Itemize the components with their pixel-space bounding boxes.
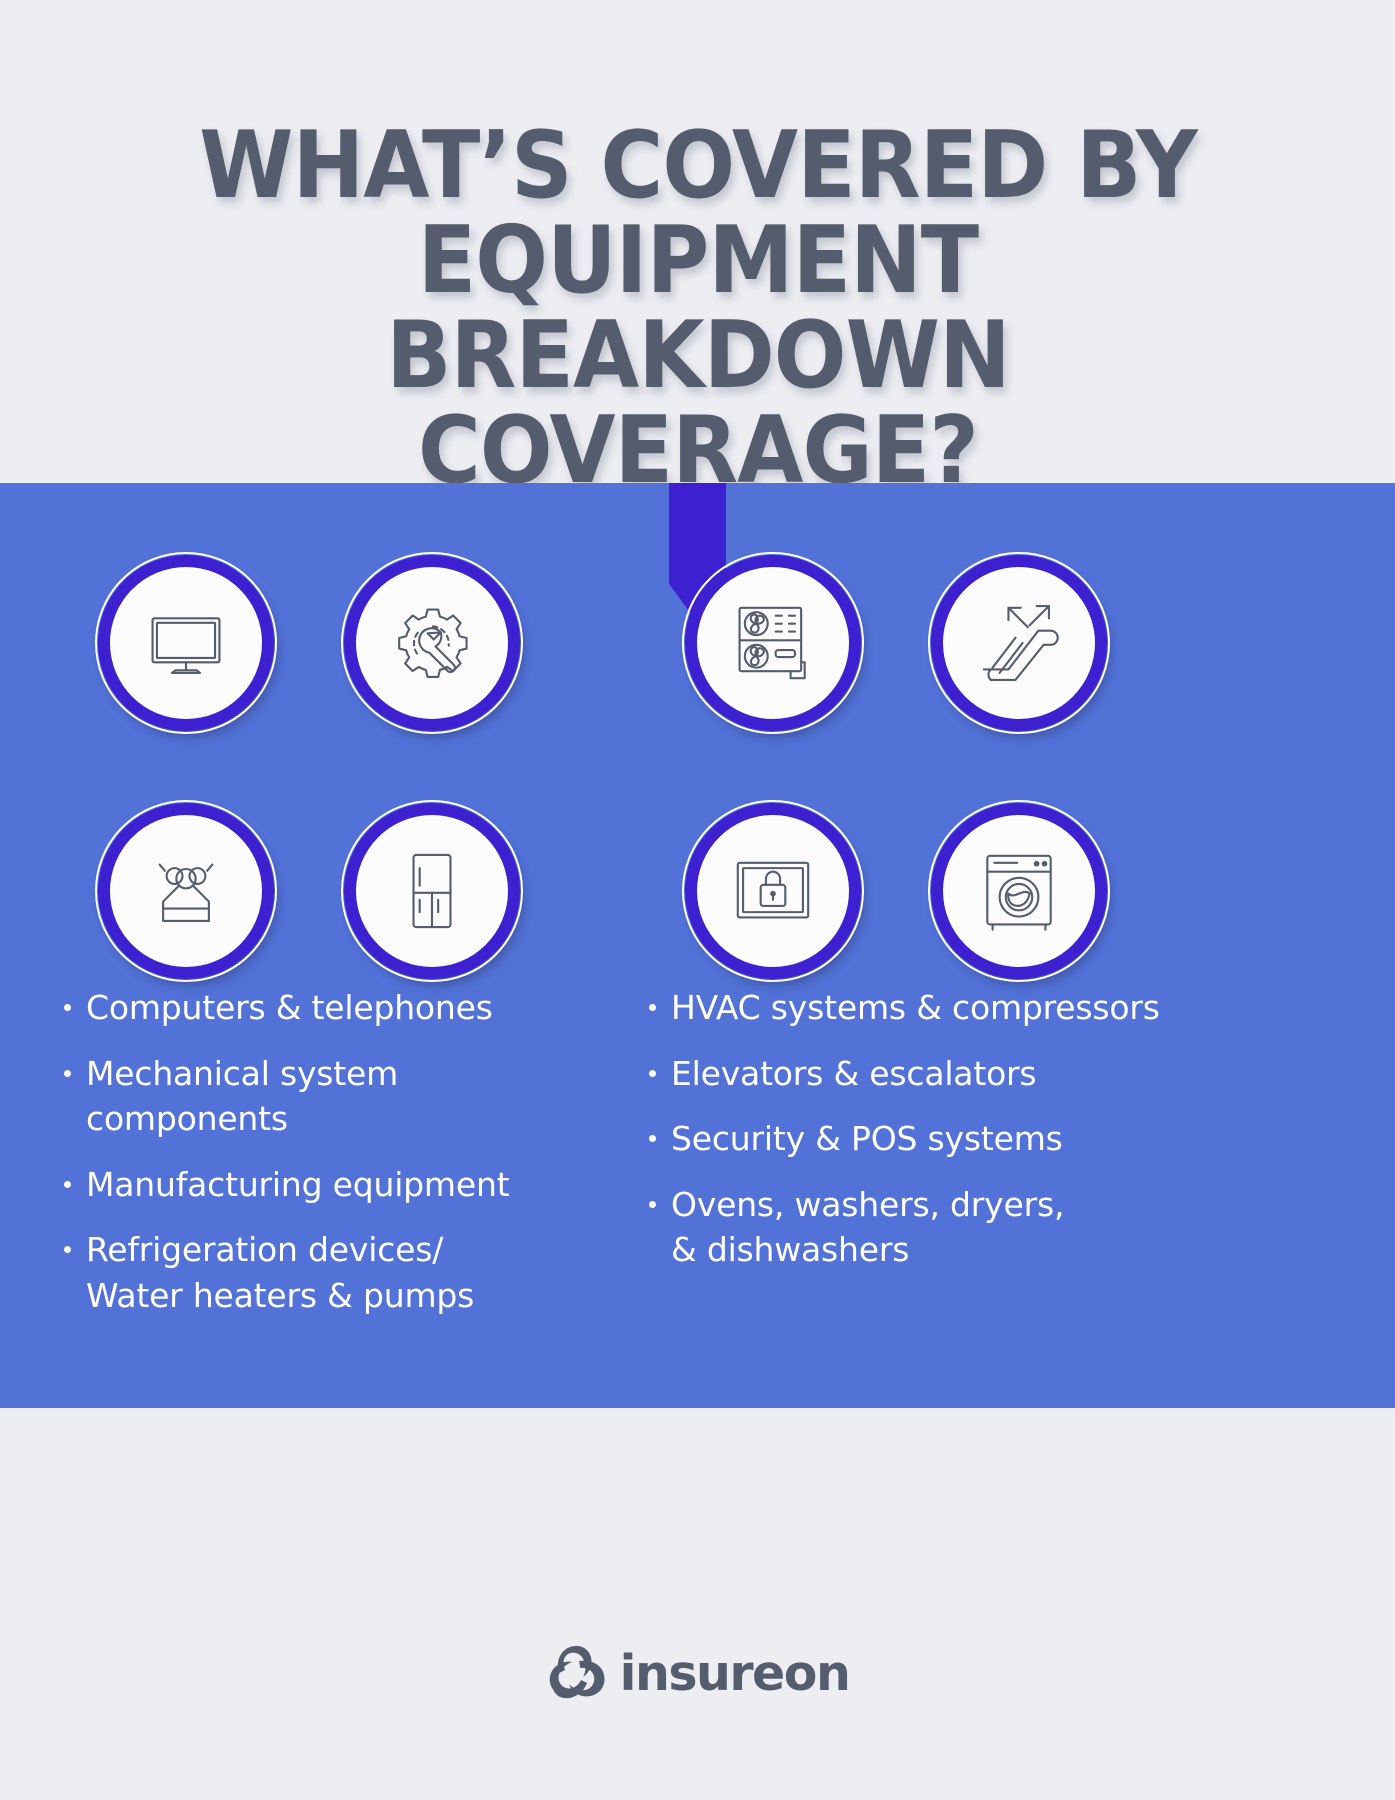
icon-bubble-escalator[interactable] — [931, 555, 1107, 731]
machinery-icon — [142, 847, 230, 935]
header-section: WHAT’S COVERED BY EQUIPMENT BREAKDOWN CO… — [0, 0, 1395, 483]
icon-column-left — [98, 483, 658, 979]
insureon-wordmark: insureon — [620, 1645, 850, 1702]
list-item: HVAC systems & compressors — [645, 985, 1245, 1031]
monitor-icon — [142, 599, 230, 687]
icon-grid — [0, 483, 1395, 983]
icon-bubble-inner — [697, 815, 849, 967]
icon-bubble-inner — [356, 815, 508, 967]
icon-bubble-monitor[interactable] — [98, 555, 274, 731]
icon-bubble-washing-machine[interactable] — [931, 803, 1107, 979]
escalator-icon — [975, 599, 1063, 687]
pos-security-icon — [729, 847, 817, 935]
icon-bubble-hvac[interactable] — [685, 555, 861, 731]
list-item: Elevators & escalators — [645, 1051, 1245, 1097]
list-item: Refrigeration devices/ Water heaters & p… — [60, 1227, 620, 1318]
washing-machine-icon — [975, 847, 1063, 935]
gear-wrench-icon — [388, 599, 476, 687]
icon-bubble-gear-wrench[interactable] — [344, 555, 520, 731]
icon-bubble-inner — [697, 567, 849, 719]
list-item: Security & POS systems — [645, 1116, 1245, 1162]
icon-bubble-inner — [110, 567, 262, 719]
insureon-logo[interactable]: insureon — [546, 1644, 850, 1702]
footer-section: insureon — [0, 1408, 1395, 1800]
icon-bubble-inner — [110, 815, 262, 967]
icon-column-right — [685, 483, 1245, 979]
infographic-page: WHAT’S COVERED BY EQUIPMENT BREAKDOWN CO… — [0, 0, 1395, 1800]
refrigerator-icon — [388, 847, 476, 935]
list-item: Ovens, washers, dryers, & dishwashers — [645, 1182, 1245, 1273]
list-item: Mechanical system components — [60, 1051, 620, 1142]
icon-bubble-inner — [943, 815, 1095, 967]
hvac-unit-icon — [729, 599, 817, 687]
icon-bubble-inner — [356, 567, 508, 719]
page-title: WHAT’S COVERED BY EQUIPMENT BREAKDOWN CO… — [98, 118, 1298, 497]
list-item: Manufacturing equipment — [60, 1162, 620, 1208]
page-title-line-1: WHAT’S COVERED BY — [146, 118, 1250, 213]
bullet-list-right: HVAC systems & compressors Elevators & e… — [645, 985, 1245, 1293]
page-title-line-2: EQUIPMENT BREAKDOWN — [146, 213, 1250, 403]
bullet-list-left: Computers & telephones Mechanical system… — [60, 985, 620, 1338]
icon-bubble-inner — [943, 567, 1095, 719]
icon-bubble-pos-security[interactable] — [685, 803, 861, 979]
icon-bubble-machinery[interactable] — [98, 803, 274, 979]
icon-bubble-refrigerator[interactable] — [344, 803, 520, 979]
list-item: Computers & telephones — [60, 985, 620, 1031]
insureon-trefoil-mark — [546, 1644, 608, 1702]
